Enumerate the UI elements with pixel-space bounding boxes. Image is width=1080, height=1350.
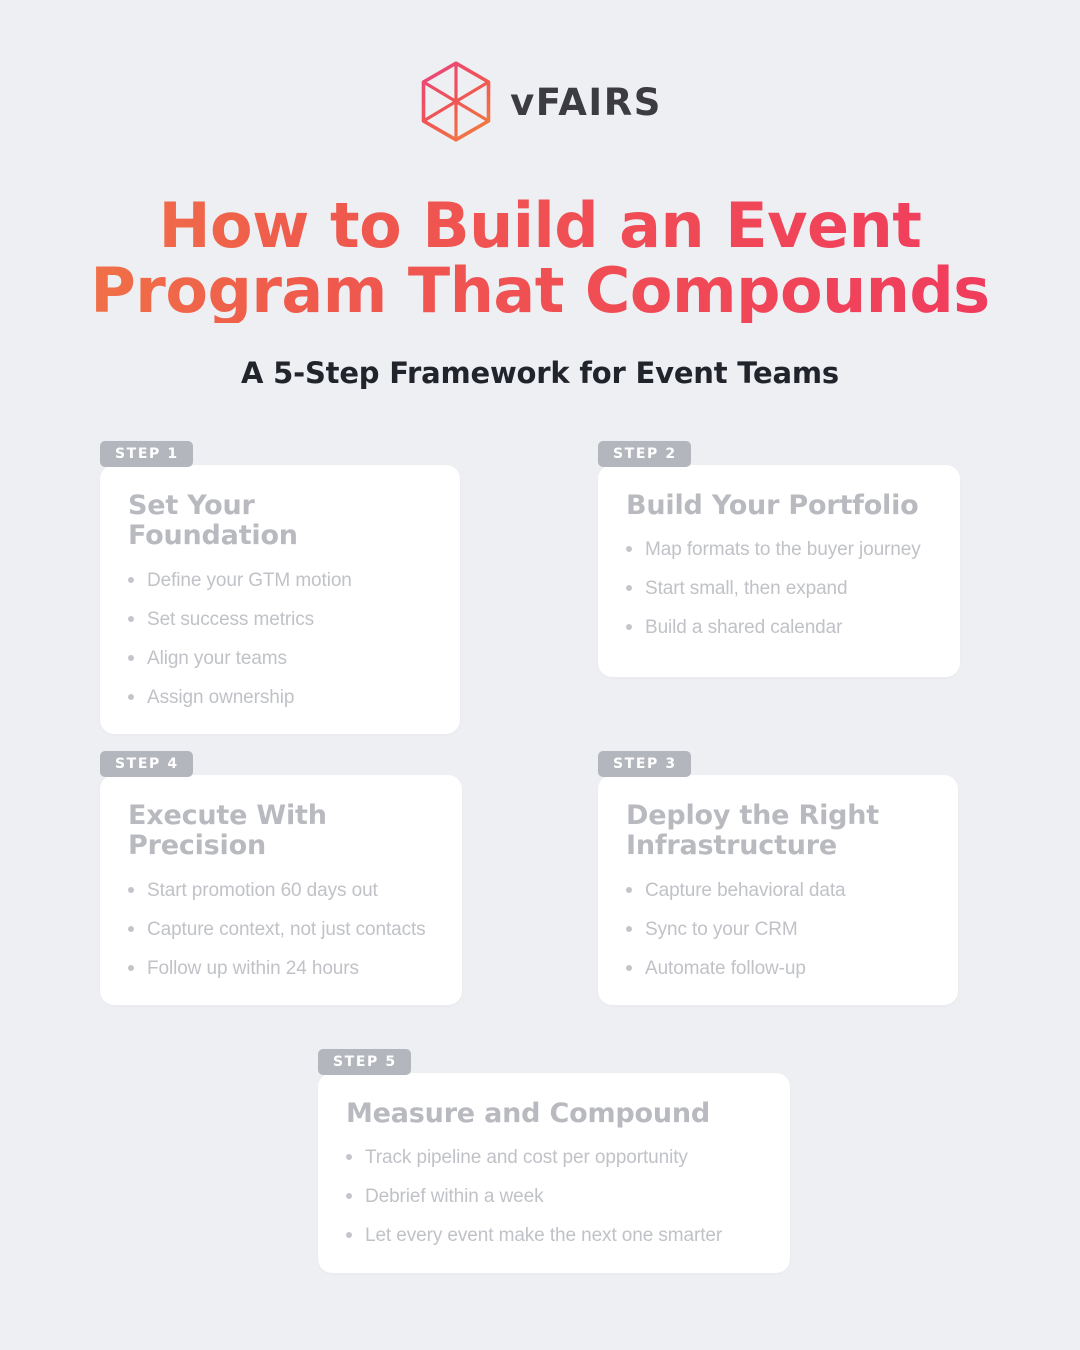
list-item-label: Start small, then expand	[645, 576, 848, 601]
list-item: Track pipeline and cost per opportunity	[346, 1145, 762, 1170]
step-title-4: Execute With Precision	[128, 801, 434, 861]
list-item-label: Start promotion 60 days out	[147, 878, 378, 903]
step-badge-3: STEP 3	[598, 751, 691, 777]
list-item: Capture behavioral data	[626, 878, 930, 903]
list-item-label: Capture context, not just contacts	[147, 917, 426, 942]
hexagon-cube-logo-icon	[418, 60, 494, 146]
bullet-dot-icon	[128, 655, 134, 661]
list-item-label: Track pipeline and cost per opportunity	[365, 1145, 688, 1170]
step-title-1: Set Your Foundation	[128, 491, 432, 551]
step-bullet-list-3: Capture behavioral data Sync to your CRM…	[626, 878, 930, 981]
page-title-line-1: How to Build an Event	[0, 193, 1080, 258]
step-card-3: STEP 3 Deploy the Right Infrastructure C…	[598, 751, 958, 1005]
list-item: Let every event make the next one smarte…	[346, 1223, 762, 1248]
step-badge-1: STEP 1	[100, 441, 193, 467]
page-title-line-2: Program That Compounds	[0, 258, 1080, 323]
bullet-dot-icon	[346, 1154, 352, 1160]
step-card-body-3: Deploy the Right Infrastructure Capture …	[598, 775, 958, 1005]
bullet-dot-icon	[346, 1232, 352, 1238]
step-bullet-list-4: Start promotion 60 days out Capture cont…	[128, 878, 434, 981]
wordmark-prefix: v	[510, 81, 536, 124]
list-item: Build a shared calendar	[626, 615, 932, 640]
step-title-5: Measure and Compound	[346, 1099, 762, 1129]
step-card-4: STEP 4 Execute With Precision Start prom…	[100, 751, 462, 1005]
step-bullet-list-2: Map formats to the buyer journey Start s…	[626, 537, 932, 640]
page-title: How to Build an Event Program That Compo…	[0, 193, 1080, 323]
brand-wordmark: vFAIRS	[510, 84, 662, 123]
list-item: Start small, then expand	[626, 576, 932, 601]
list-item: Debrief within a week	[346, 1184, 762, 1209]
list-item: Sync to your CRM	[626, 917, 930, 942]
step-card-2: STEP 2 Build Your Portfolio Map formats …	[598, 441, 960, 677]
list-item: Define your GTM motion	[128, 568, 432, 593]
list-item: Set success metrics	[128, 607, 432, 632]
step-title-2: Build Your Portfolio	[626, 491, 932, 521]
step-title-3: Deploy the Right Infrastructure	[626, 801, 930, 861]
bullet-dot-icon	[128, 926, 134, 932]
list-item-label: Map formats to the buyer journey	[645, 537, 921, 562]
bullet-dot-icon	[626, 624, 632, 630]
step-card-body-4: Execute With Precision Start promotion 6…	[100, 775, 462, 1005]
step-card-body-1: Set Your Foundation Define your GTM moti…	[100, 465, 460, 734]
bullet-dot-icon	[128, 887, 134, 893]
list-item-label: Follow up within 24 hours	[147, 956, 359, 981]
step-badge-5: STEP 5	[318, 1049, 411, 1075]
list-item: Follow up within 24 hours	[128, 956, 434, 981]
step-card-body-2: Build Your Portfolio Map formats to the …	[598, 465, 960, 677]
page-subtitle: A 5-Step Framework for Event Teams	[0, 356, 1080, 390]
list-item-label: Let every event make the next one smarte…	[365, 1223, 722, 1248]
list-item: Start promotion 60 days out	[128, 878, 434, 903]
wordmark-suffix: FAIRS	[536, 81, 662, 124]
list-item-label: Set success metrics	[147, 607, 314, 632]
step-card-5: STEP 5 Measure and Compound Track pipeli…	[318, 1049, 790, 1273]
step-badge-4: STEP 4	[100, 751, 193, 777]
list-item: Align your teams	[128, 646, 432, 671]
list-item: Map formats to the buyer journey	[626, 537, 932, 562]
step-bullet-list-1: Define your GTM motion Set success metri…	[128, 568, 432, 710]
bullet-dot-icon	[626, 546, 632, 552]
step-card-1: STEP 1 Set Your Foundation Define your G…	[100, 441, 460, 734]
list-item-label: Debrief within a week	[365, 1184, 543, 1209]
list-item-label: Assign ownership	[147, 685, 294, 710]
list-item-label: Build a shared calendar	[645, 615, 842, 640]
list-item-label: Align your teams	[147, 646, 287, 671]
bullet-dot-icon	[626, 926, 632, 932]
list-item-label: Sync to your CRM	[645, 917, 798, 942]
list-item: Capture context, not just contacts	[128, 917, 434, 942]
bullet-dot-icon	[128, 694, 134, 700]
list-item-label: Automate follow-up	[645, 956, 806, 981]
step-bullet-list-5: Track pipeline and cost per opportunity …	[346, 1145, 762, 1248]
step-badge-2: STEP 2	[598, 441, 691, 467]
bullet-dot-icon	[626, 965, 632, 971]
list-item-label: Define your GTM motion	[147, 568, 352, 593]
list-item-label: Capture behavioral data	[645, 878, 846, 903]
bullet-dot-icon	[128, 577, 134, 583]
brand-header: vFAIRS	[0, 58, 1080, 148]
list-item: Assign ownership	[128, 685, 432, 710]
bullet-dot-icon	[626, 887, 632, 893]
bullet-dot-icon	[128, 965, 134, 971]
bullet-dot-icon	[346, 1193, 352, 1199]
bullet-dot-icon	[626, 585, 632, 591]
step-card-body-5: Measure and Compound Track pipeline and …	[318, 1073, 790, 1272]
bullet-dot-icon	[128, 616, 134, 622]
list-item: Automate follow-up	[626, 956, 930, 981]
